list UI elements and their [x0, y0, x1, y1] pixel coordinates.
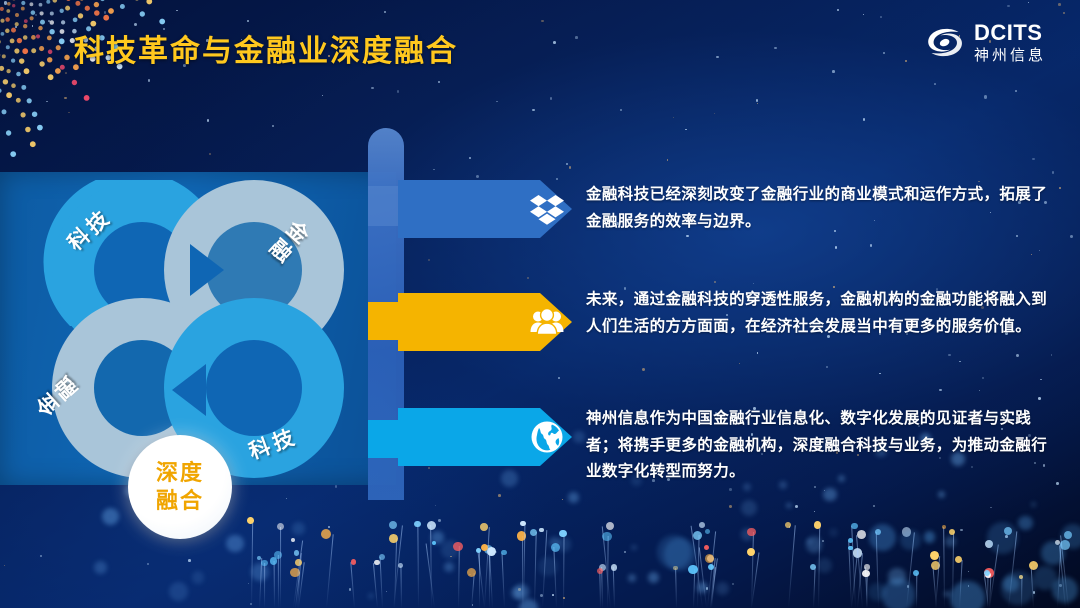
- brand-logo: DCITS 神州信息: [925, 22, 1046, 63]
- row-text-3: 神州信息作为中国金融行业信息化、数字化发展的见证者与实践者；将携手更多的金融机构…: [586, 406, 1054, 486]
- logo-text-block: DCITS 神州信息: [974, 22, 1046, 63]
- fusion-diagram-panel: 科技 金融 金融 科技 深度 融合: [0, 172, 396, 485]
- logo-english-name: DCITS: [974, 22, 1046, 44]
- arrow-banner-3[interactable]: [394, 408, 568, 466]
- slide-header: 科技革命与金融业深度融合 DCITS 神州信息: [0, 0, 1080, 88]
- users-group-icon: [530, 305, 564, 339]
- dropbox-diamond-icon: [530, 192, 564, 226]
- arrow-banner-2[interactable]: [394, 293, 568, 351]
- page-title: 科技革命与金融业深度融合: [74, 26, 458, 70]
- globe-icon: [530, 420, 564, 454]
- swirl-logo-icon: [925, 26, 965, 60]
- slide-canvas: 科技革命与金融业深度融合 DCITS 神州信息: [0, 0, 1080, 608]
- logo-chinese-name: 神州信息: [974, 48, 1046, 63]
- center-label-line2: 融合: [156, 488, 204, 514]
- center-label-line1: 深度: [156, 460, 204, 486]
- center-badge: 深度 融合: [128, 435, 232, 539]
- arrow-banner-1[interactable]: [394, 180, 568, 238]
- row-text-2: 未来，通过金融科技的穿透性服务，金融机构的金融功能将融入到人们生活的方方面面，在…: [586, 287, 1054, 340]
- row-text-1: 金融科技已经深刻改变了金融行业的商业模式和运作方式，拓展了金融服务的效率与边界。: [586, 182, 1054, 235]
